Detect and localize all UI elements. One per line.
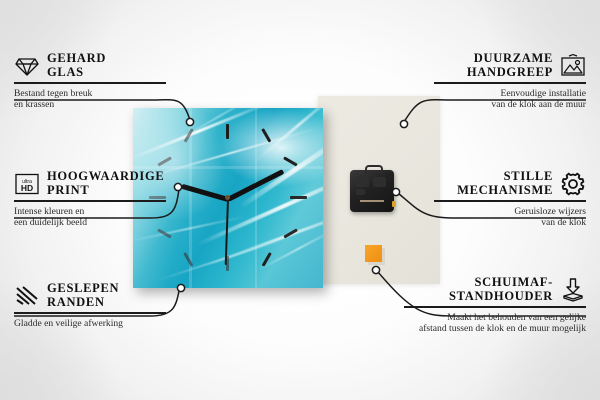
- feature-divider: [434, 200, 586, 202]
- feature-desc-line2: afstand tussen de klok en de muur mogeli…: [404, 323, 586, 334]
- infographic-canvas: GEHARD GLAS Bestand tegen breuk en krass…: [0, 0, 600, 400]
- feature-divider: [14, 200, 166, 202]
- feature-geslepen-randen: GESLEPEN RANDEN Gladde en veilige afwerk…: [14, 282, 166, 329]
- feature-gehard-glas: GEHARD GLAS Bestand tegen breuk en krass…: [14, 52, 166, 110]
- diagonal-lines-icon: [14, 284, 40, 308]
- feature-desc-line2: van de klok: [434, 217, 586, 228]
- feature-title-line1: HOOGWAARDIGE: [47, 170, 164, 184]
- ultra-hd-icon: ultra HD: [14, 172, 40, 196]
- feature-desc-line1: Eenvoudige installatie: [434, 88, 586, 99]
- diamond-icon: [14, 54, 40, 78]
- feature-hoogwaardige-print: ultra HD HOOGWAARDIGE PRINT Intense kleu…: [14, 170, 166, 228]
- feature-stille-mechanisme: STILLE MECHANISME Geruisloze wijzers van…: [434, 170, 586, 228]
- press-down-pad-icon: [560, 278, 586, 302]
- feature-desc-line1: Intense kleuren en: [14, 206, 166, 217]
- feature-desc-line1: Maakt het behouden van een gelijke: [404, 312, 586, 323]
- hanger-tab: [365, 165, 383, 174]
- feature-title-line2: HANDGREEP: [467, 66, 553, 80]
- feature-desc-line1: Gladde en veilige afwerking: [14, 318, 166, 329]
- feature-desc-line2: een duidelijk beeld: [14, 217, 166, 228]
- foam-spacer: [365, 245, 382, 262]
- feature-title-line2: MECHANISME: [457, 184, 553, 198]
- feature-desc-line2: van de klok aan de muur: [434, 99, 586, 110]
- feature-title-line1: DUURZAME: [467, 52, 553, 66]
- feature-divider: [14, 312, 166, 314]
- feature-desc-line1: Geruisloze wijzers: [434, 206, 586, 217]
- feature-divider: [404, 306, 586, 308]
- feature-duurzame-handgreep: DUURZAME HANDGREEP Eenvoudige installati…: [434, 52, 586, 110]
- clock-movement-mechanism: [350, 170, 394, 212]
- feature-title-line1: GESLEPEN: [47, 282, 119, 296]
- feature-desc-line1: Bestand tegen breuk: [14, 88, 166, 99]
- feature-title-line2: RANDEN: [47, 296, 119, 310]
- feature-title-line1: GEHARD: [47, 52, 106, 66]
- aa-battery: [354, 199, 390, 208]
- feature-title-line2: PRINT: [47, 184, 164, 198]
- feature-title-line1: STILLE: [457, 170, 553, 184]
- battery-terminal: [392, 201, 396, 207]
- feature-title-line2: STANDHOUDER: [449, 290, 553, 304]
- feature-title-line2: GLAS: [47, 66, 106, 80]
- picture-frame-icon: [560, 54, 586, 78]
- feature-title-line1: SCHUIMAF-: [449, 276, 553, 290]
- gear-icon: [560, 172, 586, 196]
- feature-schuimafstandhouder: SCHUIMAF- STANDHOUDER Maakt het behouden…: [404, 276, 586, 334]
- feature-desc-line2: en krassen: [14, 99, 166, 110]
- feature-divider: [434, 82, 586, 84]
- feature-divider: [14, 82, 166, 84]
- svg-text:HD: HD: [21, 183, 33, 193]
